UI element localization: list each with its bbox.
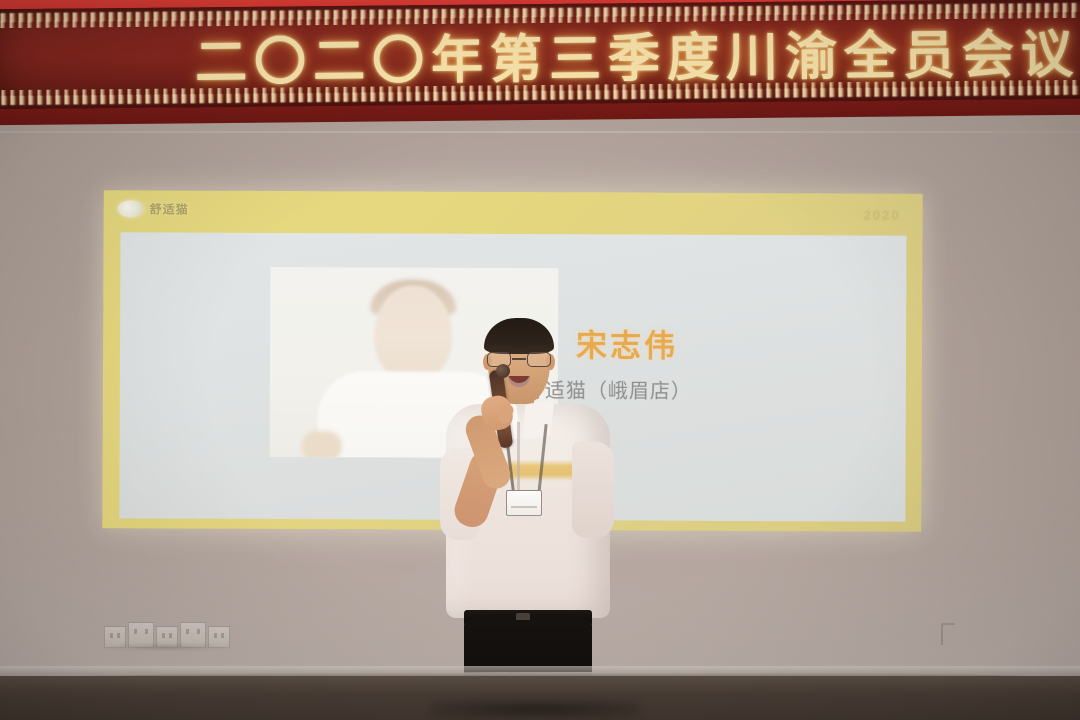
conference-photo-scene: 二〇二〇年第三季度川渝全员会议 舒适猫 2020 宋志伟 舒适猫（峨眉店） — [0, 0, 1080, 720]
led-banner: 二〇二〇年第三季度川渝全员会议 — [0, 0, 1080, 120]
presenter-eyebrow-left — [490, 346, 510, 349]
presenter-shadow — [430, 700, 640, 718]
slide-brand-logo: 舒适猫 — [118, 200, 189, 217]
brand-logo-text: 舒适猫 — [150, 200, 189, 217]
presenter-eyebrow-right — [528, 346, 548, 349]
outlet-shadow — [100, 645, 230, 649]
portrait-arm-left — [302, 431, 342, 458]
wall-outlet-icon-right — [941, 623, 955, 645]
presenter-sleeve-right — [572, 442, 614, 538]
glasses-bridge — [512, 358, 526, 360]
banner-title: 二〇二〇年第三季度川渝全员会议 — [0, 0, 1080, 109]
banner-board: 二〇二〇年第三季度川渝全员会议 — [0, 0, 1080, 109]
slide-watermark: 2020 — [864, 208, 901, 223]
presenter — [438, 318, 618, 720]
presenter-collar-right — [522, 400, 555, 440]
glasses-icon — [486, 352, 552, 368]
glasses-lens-right — [527, 352, 551, 367]
wall-seam — [0, 131, 1080, 133]
id-badge — [506, 490, 542, 516]
brand-logo-icon — [118, 200, 144, 217]
